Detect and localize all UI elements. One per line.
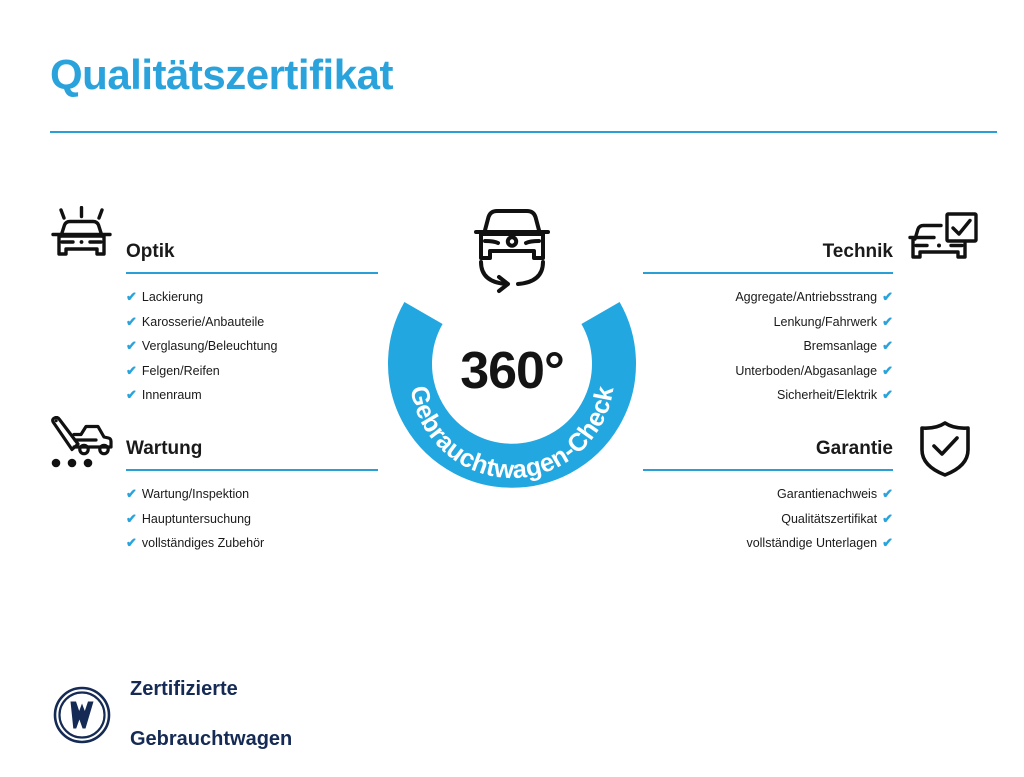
check-icon: ✔	[126, 535, 137, 550]
list-item-label: Hauptuntersuchung	[142, 512, 251, 526]
check-icon: ✔	[882, 511, 893, 526]
list-item-label: Verglasung/Beleuchtung	[142, 339, 278, 353]
check-icon: ✔	[126, 387, 137, 402]
list-item-label: Unterboden/Abgasanlage	[735, 364, 877, 378]
list-item: ✔vollständiges Zubehör	[126, 531, 378, 556]
check-icon: ✔	[882, 387, 893, 402]
checklist-wartung: ✔Wartung/Inspektion ✔Hauptuntersuchung ✔…	[126, 482, 378, 556]
check-icon: ✔	[882, 535, 893, 550]
list-item: Unterboden/Abgasanlage✔	[643, 359, 893, 384]
list-item-label: Lackierung	[142, 290, 203, 304]
section-title-technik: Technik	[643, 240, 893, 264]
list-item-label: Bremsanlage	[803, 339, 877, 353]
check-icon: ✔	[126, 314, 137, 329]
check-icon: ✔	[126, 511, 137, 526]
car-checkbox-icon	[908, 212, 978, 275]
list-item-label: Sicherheit/Elektrik	[777, 388, 877, 402]
list-item: ✔Wartung/Inspektion	[126, 482, 378, 507]
section-title-wartung: Wartung	[126, 437, 378, 461]
list-item: ✔Karosserie/Anbauteile	[126, 310, 378, 335]
list-item: ✔Innenraum	[126, 383, 378, 408]
list-item-label: Garantienachweis	[777, 487, 877, 501]
list-item-label: vollständige Unterlagen	[746, 536, 877, 550]
check-icon: ✔	[126, 338, 137, 353]
list-item: Sicherheit/Elektrik✔	[643, 383, 893, 408]
section-garantie: Garantie Garantienachweis✔ Qualitätszert…	[643, 437, 893, 556]
list-item-label: Wartung/Inspektion	[142, 487, 249, 501]
list-item: Garantienachweis✔	[643, 482, 893, 507]
footer-logo-text: Zertifizierte Gebrauchtwagen	[130, 652, 292, 777]
section-header: Garantie	[643, 437, 893, 471]
check-icon: ✔	[882, 363, 893, 378]
check-icon: ✔	[882, 289, 893, 304]
list-item-label: Lenkung/Fahrwerk	[774, 315, 878, 329]
section-header: Wartung	[126, 437, 378, 471]
footer-logo-line1: Zertifizierte	[130, 677, 292, 702]
section-optik: Optik ✔Lackierung ✔Karosserie/Anbauteile…	[126, 240, 378, 408]
list-item: Qualitätszertifikat✔	[643, 507, 893, 532]
title-divider	[50, 131, 997, 133]
list-item: ✔Lackierung	[126, 285, 378, 310]
list-item: ✔Felgen/Reifen	[126, 359, 378, 384]
checklist-garantie: Garantienachweis✔ Qualitätszertifikat✔ v…	[643, 482, 893, 556]
section-header: Optik	[126, 240, 378, 274]
vw-logo	[52, 685, 112, 745]
list-item: Lenkung/Fahrwerk✔	[643, 310, 893, 335]
footer-logo: Zertifizierte Gebrauchtwagen	[52, 652, 292, 777]
list-item: Bremsanlage✔	[643, 334, 893, 359]
section-technik: Technik Aggregate/Antriebsstrang✔ Lenkun…	[643, 240, 893, 408]
car-shine-icon	[48, 206, 116, 273]
check-icon: ✔	[126, 486, 137, 501]
check-icon: ✔	[882, 338, 893, 353]
list-item-label: Aggregate/Antriebsstrang	[735, 290, 877, 304]
badge-number: 360°	[376, 341, 648, 401]
section-title-optik: Optik	[126, 240, 378, 264]
list-item: ✔Hauptuntersuchung	[126, 507, 378, 532]
page-title: Qualitätszertifikat	[50, 54, 393, 96]
check-icon: ✔	[126, 289, 137, 304]
section-divider	[126, 272, 378, 274]
section-divider	[643, 469, 893, 471]
list-item-label: Karosserie/Anbauteile	[142, 315, 264, 329]
section-divider	[126, 469, 378, 471]
section-title-garantie: Garantie	[643, 437, 893, 461]
check-icon: ✔	[126, 363, 137, 378]
checklist-technik: Aggregate/Antriebsstrang✔ Lenkung/Fahrwe…	[643, 285, 893, 408]
checklist-optik: ✔Lackierung ✔Karosserie/Anbauteile ✔Verg…	[126, 285, 378, 408]
shield-check-icon	[918, 420, 972, 483]
footer-logo-line2: Gebrauchtwagen	[130, 727, 292, 752]
section-divider	[643, 272, 893, 274]
list-item-label: vollständiges Zubehör	[142, 536, 264, 550]
list-item-label: Innenraum	[142, 388, 202, 402]
check-icon: ✔	[882, 314, 893, 329]
list-item: Aggregate/Antriebsstrang✔	[643, 285, 893, 310]
list-item-label: Qualitätszertifikat	[781, 512, 877, 526]
list-item: ✔Verglasung/Beleuchtung	[126, 334, 378, 359]
list-item-label: Felgen/Reifen	[142, 364, 220, 378]
badge-360-gebrauchtwagen-check: Gebrauchtwagen-Check 360°	[376, 196, 648, 508]
list-item: vollständige Unterlagen✔	[643, 531, 893, 556]
car-rotate-icon	[462, 196, 562, 300]
wrench-car-icon	[48, 416, 116, 477]
section-wartung: Wartung ✔Wartung/Inspektion ✔Hauptunters…	[126, 437, 378, 556]
check-icon: ✔	[882, 486, 893, 501]
section-header: Technik	[643, 240, 893, 274]
